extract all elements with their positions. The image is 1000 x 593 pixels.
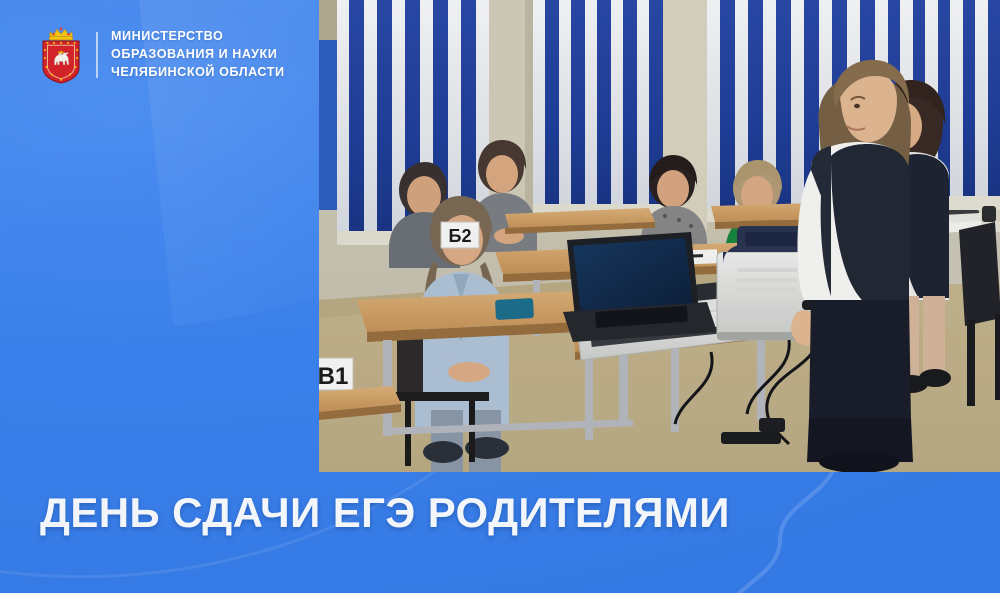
classroom-photo-illustration: А1 Б1 Б2 [319, 0, 1000, 472]
chelyabinsk-oblast-coat-of-arms-icon [38, 26, 84, 84]
ministry-name: МИНИСТЕРСТВО ОБРАЗОВАНИЯ И НАУКИ ЧЕЛЯБИН… [111, 28, 285, 82]
brand-divider [96, 32, 98, 78]
ministry-brand-block: МИНИСТЕРСТВО ОБРАЗОВАНИЯ И НАУКИ ЧЕЛЯБИН… [38, 26, 285, 84]
page-title: ДЕНЬ СДАЧИ ЕГЭ РОДИТЕЛЯМИ [40, 492, 730, 534]
promo-banner: МИНИСТЕРСТВО ОБРАЗОВАНИЯ И НАУКИ ЧЕЛЯБИН… [0, 0, 1000, 593]
classroom-photo: А1 Б1 Б2 [319, 0, 1000, 472]
